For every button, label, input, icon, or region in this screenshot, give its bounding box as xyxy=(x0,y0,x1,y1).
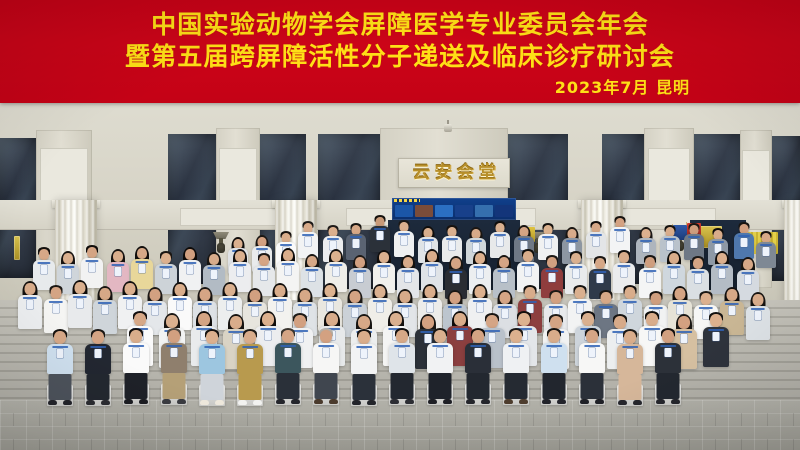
lanyard xyxy=(473,300,487,302)
lanyard xyxy=(398,233,410,235)
name-badge xyxy=(53,304,60,313)
shoe-right xyxy=(329,399,338,404)
shoe-left xyxy=(504,399,513,404)
name-badge xyxy=(361,349,368,358)
event-banner: 中国实验动物学会屏障医学专业委员会年会 暨第五届跨屏障活性分子递送及临床诊疗研讨… xyxy=(0,0,800,103)
attendee-seated xyxy=(275,329,301,409)
lanyard xyxy=(523,301,537,303)
legs xyxy=(619,374,642,400)
lanyard xyxy=(751,308,765,310)
shoe-left xyxy=(162,399,171,404)
head xyxy=(244,331,256,344)
name-badge xyxy=(497,237,504,246)
attendee-seated xyxy=(351,330,377,410)
lanyard xyxy=(323,299,337,301)
shoe-right xyxy=(101,400,110,405)
name-badge xyxy=(457,331,464,340)
head xyxy=(51,287,62,299)
legs xyxy=(201,374,224,400)
name-badge xyxy=(139,264,146,273)
lanyard xyxy=(738,235,750,237)
legs xyxy=(277,373,300,399)
lanyard xyxy=(111,264,124,266)
name-badge xyxy=(209,349,216,358)
head xyxy=(307,256,317,267)
head xyxy=(113,251,123,262)
name-badge xyxy=(377,303,384,312)
head xyxy=(225,284,236,296)
attendee-seated xyxy=(427,329,453,409)
lanyard xyxy=(566,240,578,242)
legs xyxy=(315,373,338,399)
head xyxy=(150,289,161,301)
lanyard xyxy=(708,329,724,331)
lanyard xyxy=(699,307,713,309)
name-badge xyxy=(513,348,520,357)
lanyard xyxy=(508,345,524,347)
head xyxy=(518,313,530,326)
head xyxy=(175,284,186,296)
name-badge xyxy=(719,269,726,278)
lanyard xyxy=(494,234,506,236)
lanyard xyxy=(448,306,462,308)
attendee-back-row xyxy=(756,232,776,272)
name-badge xyxy=(227,301,234,310)
head xyxy=(571,253,581,264)
head xyxy=(551,292,562,304)
lanyard xyxy=(446,238,458,240)
name-badge xyxy=(477,269,484,278)
lanyard xyxy=(223,298,237,300)
lanyard xyxy=(98,302,112,304)
lanyard xyxy=(135,261,148,263)
name-badge xyxy=(211,270,218,279)
name-badge xyxy=(525,267,532,276)
name-badge xyxy=(177,301,184,310)
name-badge xyxy=(261,271,268,280)
name-badge xyxy=(353,239,360,248)
lanyard xyxy=(52,346,68,348)
name-badge xyxy=(357,273,364,282)
lanyard xyxy=(573,301,587,303)
legs xyxy=(543,373,566,399)
lanyard xyxy=(640,240,652,242)
lanyard xyxy=(61,266,74,268)
head xyxy=(63,253,73,264)
lanyard xyxy=(198,303,212,305)
name-badge xyxy=(285,348,292,357)
lanyard xyxy=(741,272,754,274)
lanyard xyxy=(593,271,606,273)
head xyxy=(547,257,557,268)
name-badge xyxy=(755,311,762,320)
lanyard xyxy=(398,305,412,307)
head xyxy=(743,259,753,270)
head xyxy=(355,257,365,268)
lanyard xyxy=(673,302,687,304)
name-badge xyxy=(309,272,316,281)
lanyard xyxy=(599,306,613,308)
head xyxy=(235,251,245,262)
lanyard xyxy=(394,345,410,347)
head xyxy=(450,292,461,304)
head xyxy=(601,292,612,304)
head xyxy=(710,314,722,327)
lanyard xyxy=(423,300,437,302)
attendee-mid-lower-row xyxy=(44,286,68,334)
shoe-right xyxy=(671,399,680,404)
name-badge xyxy=(551,348,558,357)
lanyard xyxy=(90,346,106,348)
head xyxy=(548,330,560,343)
shoe-right xyxy=(215,400,224,405)
lanyard xyxy=(37,262,50,264)
head xyxy=(161,253,171,264)
legs xyxy=(581,373,604,399)
head xyxy=(486,315,498,328)
legs xyxy=(239,374,262,400)
head xyxy=(625,287,636,299)
name-badge xyxy=(597,274,604,283)
lanyard xyxy=(569,266,582,268)
head xyxy=(275,285,286,297)
shoe-left xyxy=(314,399,323,404)
shoe-left xyxy=(124,399,133,404)
lanyard xyxy=(256,248,268,250)
name-badge xyxy=(691,239,698,248)
name-badge xyxy=(405,273,412,282)
shoe-right xyxy=(481,399,490,404)
head xyxy=(693,258,703,269)
head xyxy=(403,257,413,268)
name-badge xyxy=(501,273,508,282)
head xyxy=(472,330,484,343)
legs xyxy=(353,374,376,400)
shoe-right xyxy=(519,399,528,404)
lanyard xyxy=(183,262,196,264)
name-badge xyxy=(89,263,96,272)
legs xyxy=(505,373,528,399)
lanyard xyxy=(85,260,98,262)
head xyxy=(595,258,605,269)
head xyxy=(25,283,36,295)
head xyxy=(475,253,485,264)
name-badge xyxy=(453,274,460,283)
lanyard xyxy=(425,264,438,266)
head xyxy=(134,313,146,326)
lanyard xyxy=(353,270,366,272)
head xyxy=(624,331,636,344)
lanyard xyxy=(622,346,638,348)
name-badge xyxy=(77,299,84,308)
attendee-seated xyxy=(123,329,149,409)
head xyxy=(137,248,147,259)
head xyxy=(586,330,598,343)
head xyxy=(390,313,402,326)
shoe-right xyxy=(253,400,262,405)
head xyxy=(209,254,219,265)
lanyard xyxy=(617,265,630,267)
head xyxy=(39,249,49,260)
lanyard xyxy=(614,229,626,231)
lanyard xyxy=(207,267,220,269)
lanyard xyxy=(166,345,182,347)
legs xyxy=(163,373,186,399)
head xyxy=(331,251,341,262)
name-badge xyxy=(285,266,292,275)
lanyard xyxy=(242,346,258,348)
name-badge xyxy=(427,303,434,312)
legs xyxy=(125,373,148,399)
head xyxy=(185,249,195,260)
lanyard xyxy=(470,240,482,242)
name-badge xyxy=(665,348,672,357)
head xyxy=(727,289,738,301)
lanyard xyxy=(470,345,486,347)
name-badge xyxy=(477,303,484,312)
head xyxy=(475,286,486,298)
shoe-left xyxy=(580,399,589,404)
head xyxy=(619,252,629,263)
name-badge xyxy=(171,348,178,357)
lanyard xyxy=(432,345,448,347)
name-badge xyxy=(41,265,48,274)
attendee-seated xyxy=(617,330,643,410)
name-badge xyxy=(401,236,408,245)
lanyard xyxy=(649,307,663,309)
name-badge xyxy=(327,302,334,311)
name-badge xyxy=(549,273,556,282)
head xyxy=(427,251,437,262)
head xyxy=(326,313,338,326)
name-badge xyxy=(627,304,634,313)
lanyard xyxy=(521,264,534,266)
attendee-seated xyxy=(655,329,681,409)
lanyard xyxy=(173,298,187,300)
head xyxy=(375,286,386,298)
lanyard xyxy=(233,264,246,266)
name-badge xyxy=(399,348,406,357)
shoe-left xyxy=(238,400,247,405)
lanyard xyxy=(623,301,637,303)
attendee-seated xyxy=(161,329,187,409)
name-badge xyxy=(593,237,600,246)
lanyard xyxy=(350,236,362,238)
head xyxy=(166,315,178,328)
head xyxy=(262,313,274,326)
attendee-seated xyxy=(579,329,605,409)
head xyxy=(125,283,136,295)
name-badge xyxy=(667,241,674,250)
name-badge xyxy=(333,267,340,276)
attendee-seated xyxy=(85,330,111,410)
head xyxy=(645,257,655,268)
lanyard xyxy=(584,345,600,347)
head xyxy=(614,316,626,329)
lanyard xyxy=(549,306,563,308)
name-badge xyxy=(617,232,624,241)
head xyxy=(651,293,662,305)
legs xyxy=(391,373,414,399)
head xyxy=(575,287,586,299)
head xyxy=(422,316,434,329)
head xyxy=(646,313,658,326)
name-badge xyxy=(133,348,140,357)
name-badge xyxy=(429,267,436,276)
name-badge xyxy=(95,349,102,358)
head xyxy=(379,252,389,263)
lanyard xyxy=(725,303,739,305)
head xyxy=(75,282,86,294)
lanyard xyxy=(660,345,676,347)
head xyxy=(675,288,686,300)
banner-title-line-2: 暨第五届跨屏障活性分子递送及临床诊疗研讨会 xyxy=(0,43,800,71)
lanyard xyxy=(518,238,530,240)
name-badge xyxy=(237,267,244,276)
name-badge xyxy=(475,348,482,357)
lanyard xyxy=(327,238,339,240)
shoe-right xyxy=(139,399,148,404)
shoe-right xyxy=(633,400,642,405)
shoe-right xyxy=(595,399,604,404)
lanyard xyxy=(49,301,63,303)
attendee-mid-lower-row xyxy=(18,282,42,330)
name-badge xyxy=(163,269,170,278)
name-badge xyxy=(677,305,684,314)
head xyxy=(662,330,674,343)
legs xyxy=(429,373,452,399)
lanyard xyxy=(23,297,37,299)
head xyxy=(400,291,411,303)
name-badge xyxy=(247,349,254,358)
lanyard xyxy=(123,297,137,299)
head xyxy=(100,288,111,300)
name-badge xyxy=(643,243,650,252)
lanyard xyxy=(449,271,462,273)
head xyxy=(200,289,211,301)
head xyxy=(206,331,218,344)
lanyard xyxy=(148,303,162,305)
lanyard xyxy=(305,269,318,271)
banner-title-line-1: 中国实验动物学会屏障医学专业委员会年会 xyxy=(0,11,800,39)
attendee-seated xyxy=(465,329,491,409)
name-badge xyxy=(681,334,688,343)
attendee-seated xyxy=(503,329,529,409)
name-badge xyxy=(627,349,634,358)
lanyard xyxy=(712,241,724,243)
head xyxy=(300,290,311,302)
head xyxy=(669,253,679,264)
head xyxy=(678,316,690,329)
lanyard xyxy=(348,305,362,307)
head xyxy=(320,330,332,343)
head xyxy=(283,250,293,261)
shoe-left xyxy=(390,399,399,404)
head xyxy=(523,251,533,262)
head xyxy=(54,331,66,344)
shoe-left xyxy=(276,399,285,404)
lanyard xyxy=(298,304,312,306)
name-badge xyxy=(187,265,194,274)
lanyard xyxy=(590,234,602,236)
shoe-left xyxy=(466,399,475,404)
name-badge xyxy=(437,348,444,357)
attendee-seated xyxy=(389,329,415,409)
head xyxy=(250,290,261,302)
shoe-left xyxy=(86,400,95,405)
head xyxy=(717,253,727,264)
lanyard xyxy=(374,228,386,230)
shoe-left xyxy=(200,400,209,405)
lanyard xyxy=(715,266,728,268)
lanyard xyxy=(257,268,270,270)
lanyard xyxy=(302,234,314,236)
legs xyxy=(467,373,490,399)
lanyard xyxy=(273,299,287,301)
head xyxy=(434,330,446,343)
shoe-left xyxy=(428,399,437,404)
head xyxy=(282,330,294,343)
name-badge xyxy=(695,274,702,283)
attendee-mid-lower-row xyxy=(68,281,92,329)
name-badge xyxy=(57,349,64,358)
head xyxy=(198,313,210,326)
head xyxy=(325,285,336,297)
head xyxy=(87,247,97,258)
name-badge xyxy=(671,269,678,278)
shoe-left xyxy=(48,400,57,405)
head xyxy=(350,291,361,303)
lanyard xyxy=(73,296,87,298)
lanyard xyxy=(643,270,656,272)
shoe-right xyxy=(557,399,566,404)
lanyard xyxy=(373,300,387,302)
lanyard xyxy=(498,306,512,308)
lanyard xyxy=(760,244,772,246)
shoe-right xyxy=(367,400,376,405)
name-badge xyxy=(381,268,388,277)
lanyard xyxy=(546,345,562,347)
attendee-mid-lower-row xyxy=(746,293,770,341)
lanyard xyxy=(401,270,414,272)
head xyxy=(92,331,104,344)
shoe-right xyxy=(291,399,300,404)
name-badge xyxy=(763,247,770,256)
lanyard xyxy=(542,236,554,238)
name-badge xyxy=(102,305,109,314)
name-badge xyxy=(305,237,312,246)
head xyxy=(259,255,269,266)
shoe-left xyxy=(618,400,627,405)
name-badge xyxy=(745,275,752,284)
name-badge xyxy=(741,238,748,247)
attendee-seated xyxy=(313,329,339,409)
name-badge xyxy=(277,302,284,311)
shoe-right xyxy=(63,400,72,405)
legs xyxy=(49,374,72,400)
shoe-left xyxy=(542,399,551,404)
name-badge xyxy=(621,268,628,277)
name-badge xyxy=(589,348,596,357)
lanyard xyxy=(356,346,372,348)
banner-date-location: 2023年7月 昆明 xyxy=(0,78,800,97)
name-badge xyxy=(265,331,272,340)
legs xyxy=(87,374,110,400)
head xyxy=(451,258,461,269)
name-badge xyxy=(115,267,122,276)
head xyxy=(230,316,242,329)
name-badge xyxy=(127,300,134,309)
